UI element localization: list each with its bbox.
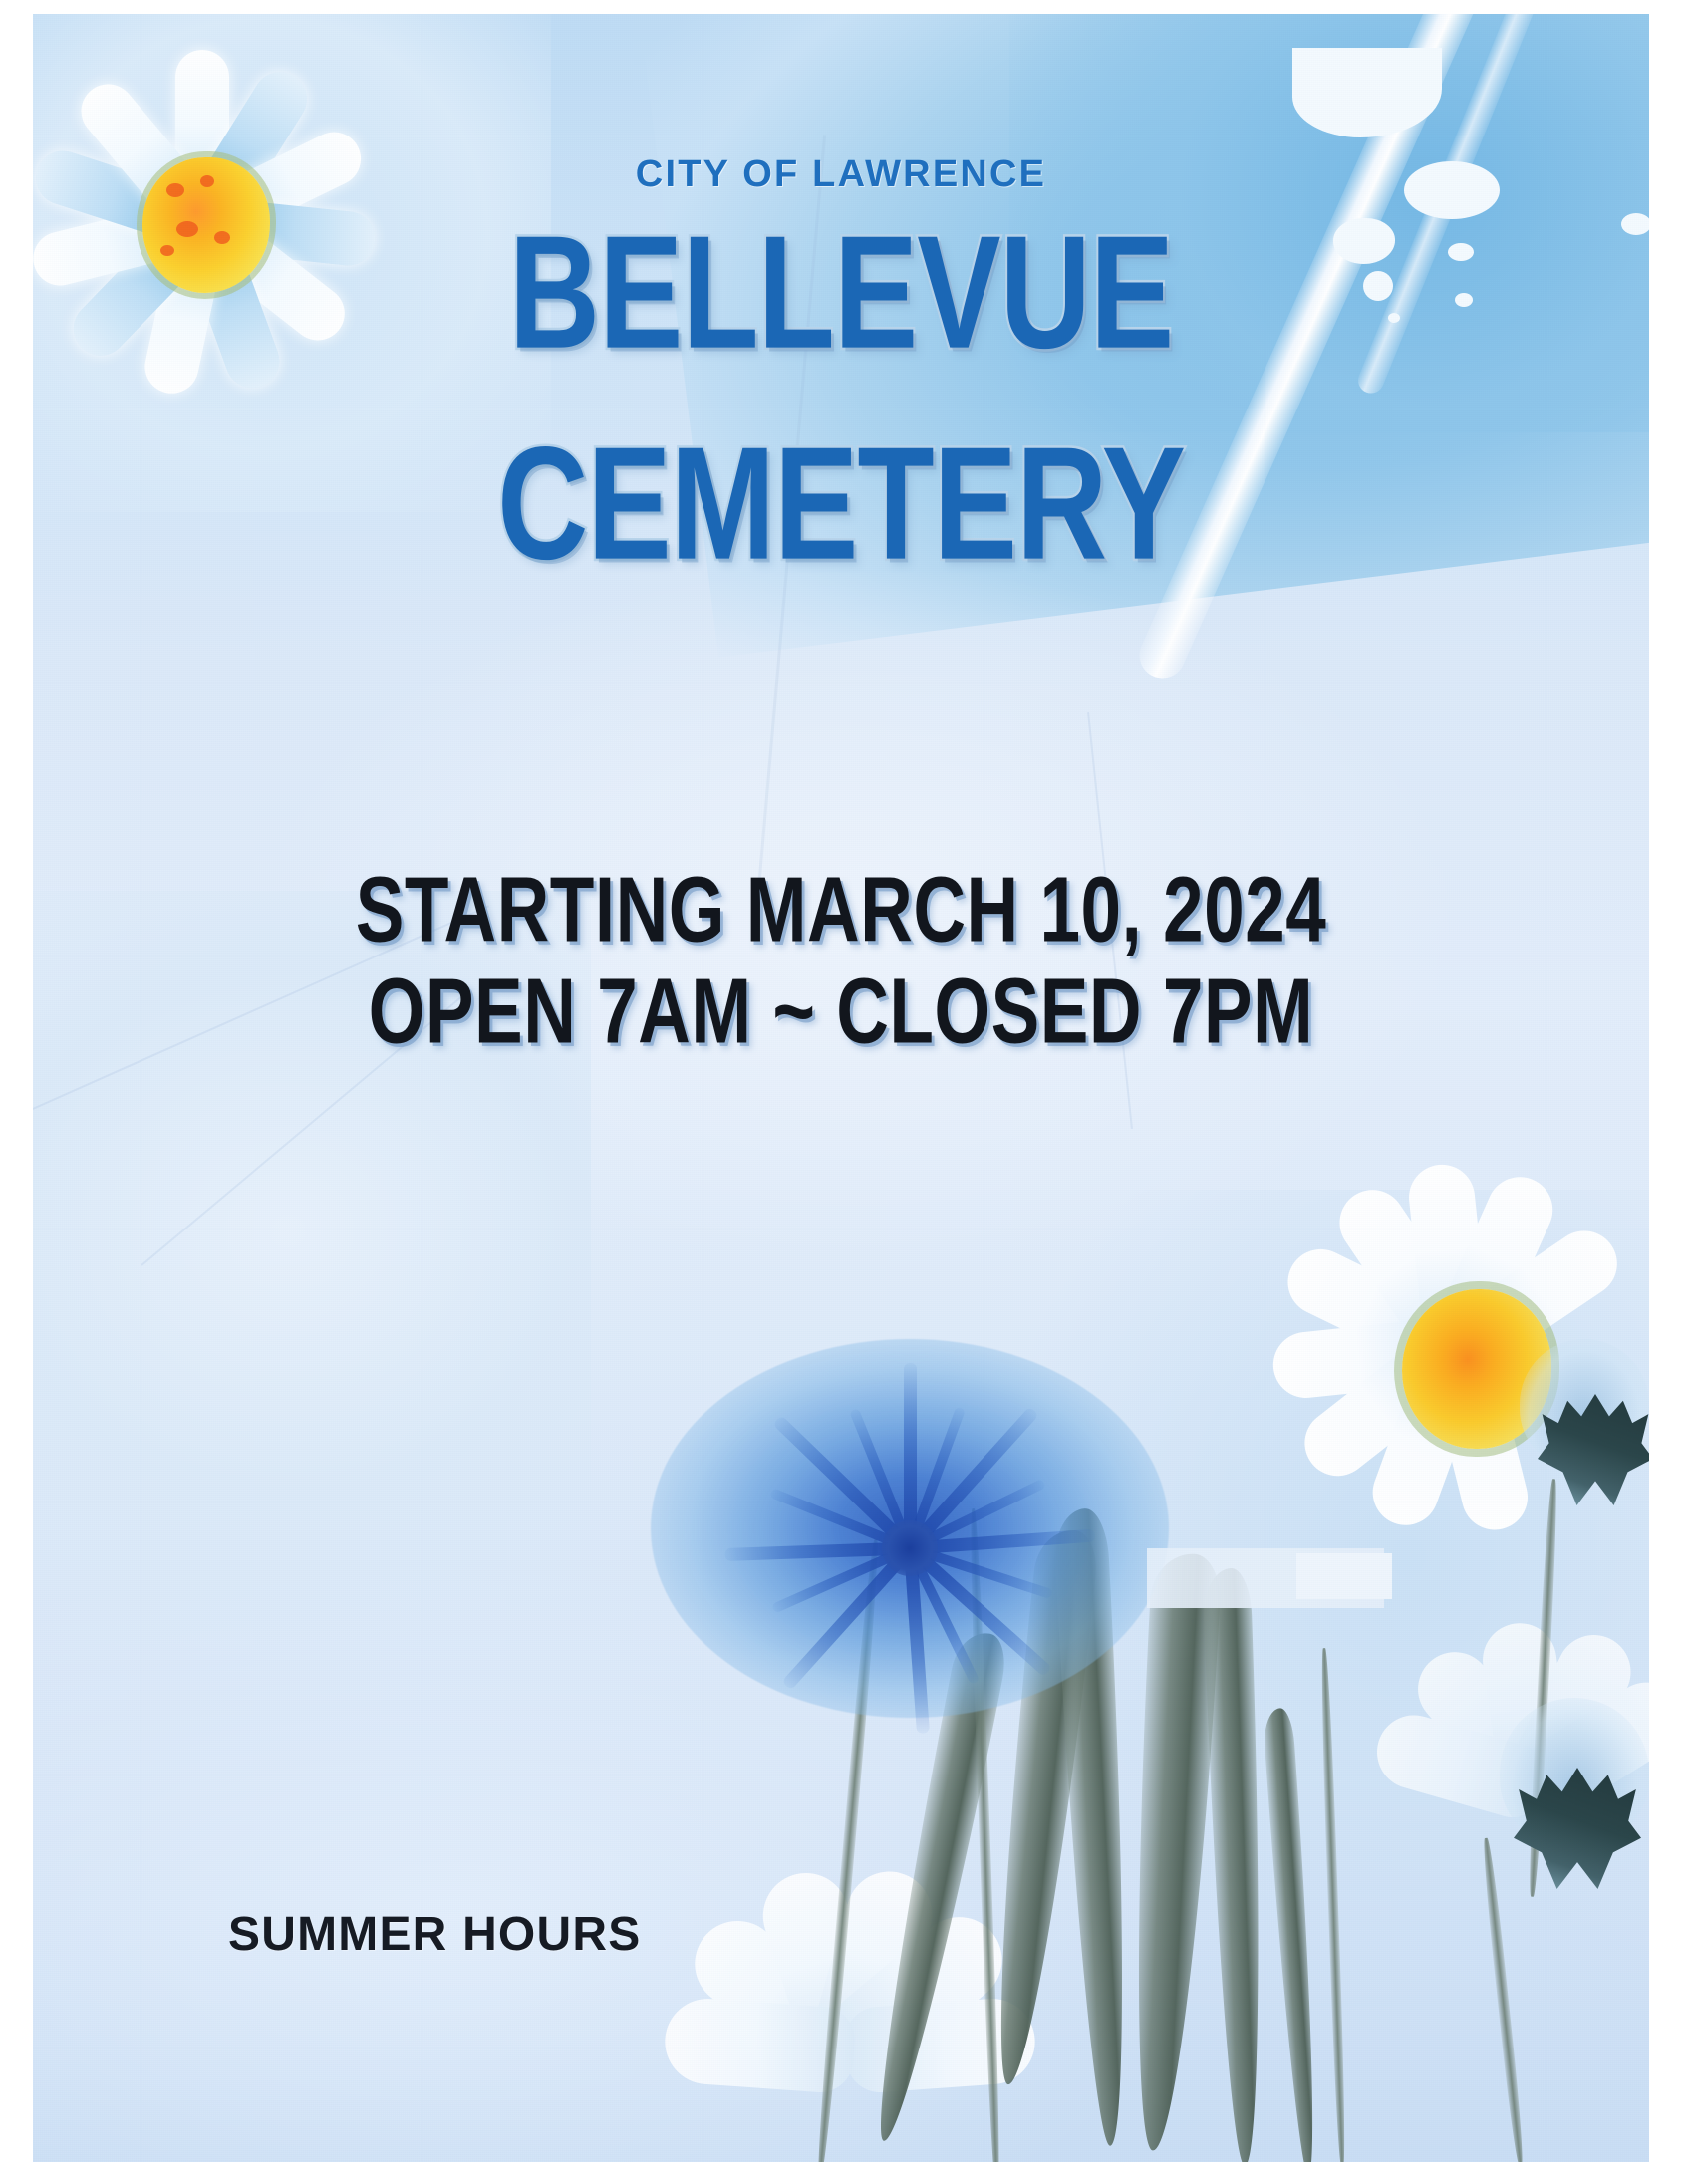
poster-text-layer: CITY OF LAWRENCE BELLEVUE CEMETERY START… — [33, 14, 1649, 2162]
page-title-line-2: CEMETERY — [33, 423, 1649, 584]
page-title-line-1: BELLEVUE — [33, 212, 1649, 373]
notice-line-hours: OPEN 7AM ~ CLOSED 7PM — [65, 966, 1616, 1059]
scanned-page: CITY OF LAWRENCE BELLEVUE CEMETERY START… — [33, 14, 1649, 2162]
notice-line-start-date: STARTING MARCH 10, 2024 — [65, 865, 1616, 957]
poster-canvas: CITY OF LAWRENCE BELLEVUE CEMETERY START… — [0, 0, 1687, 2184]
summer-hours-label: SUMMER HOURS — [228, 1907, 641, 1962]
organization-kicker: CITY OF LAWRENCE — [33, 153, 1649, 196]
